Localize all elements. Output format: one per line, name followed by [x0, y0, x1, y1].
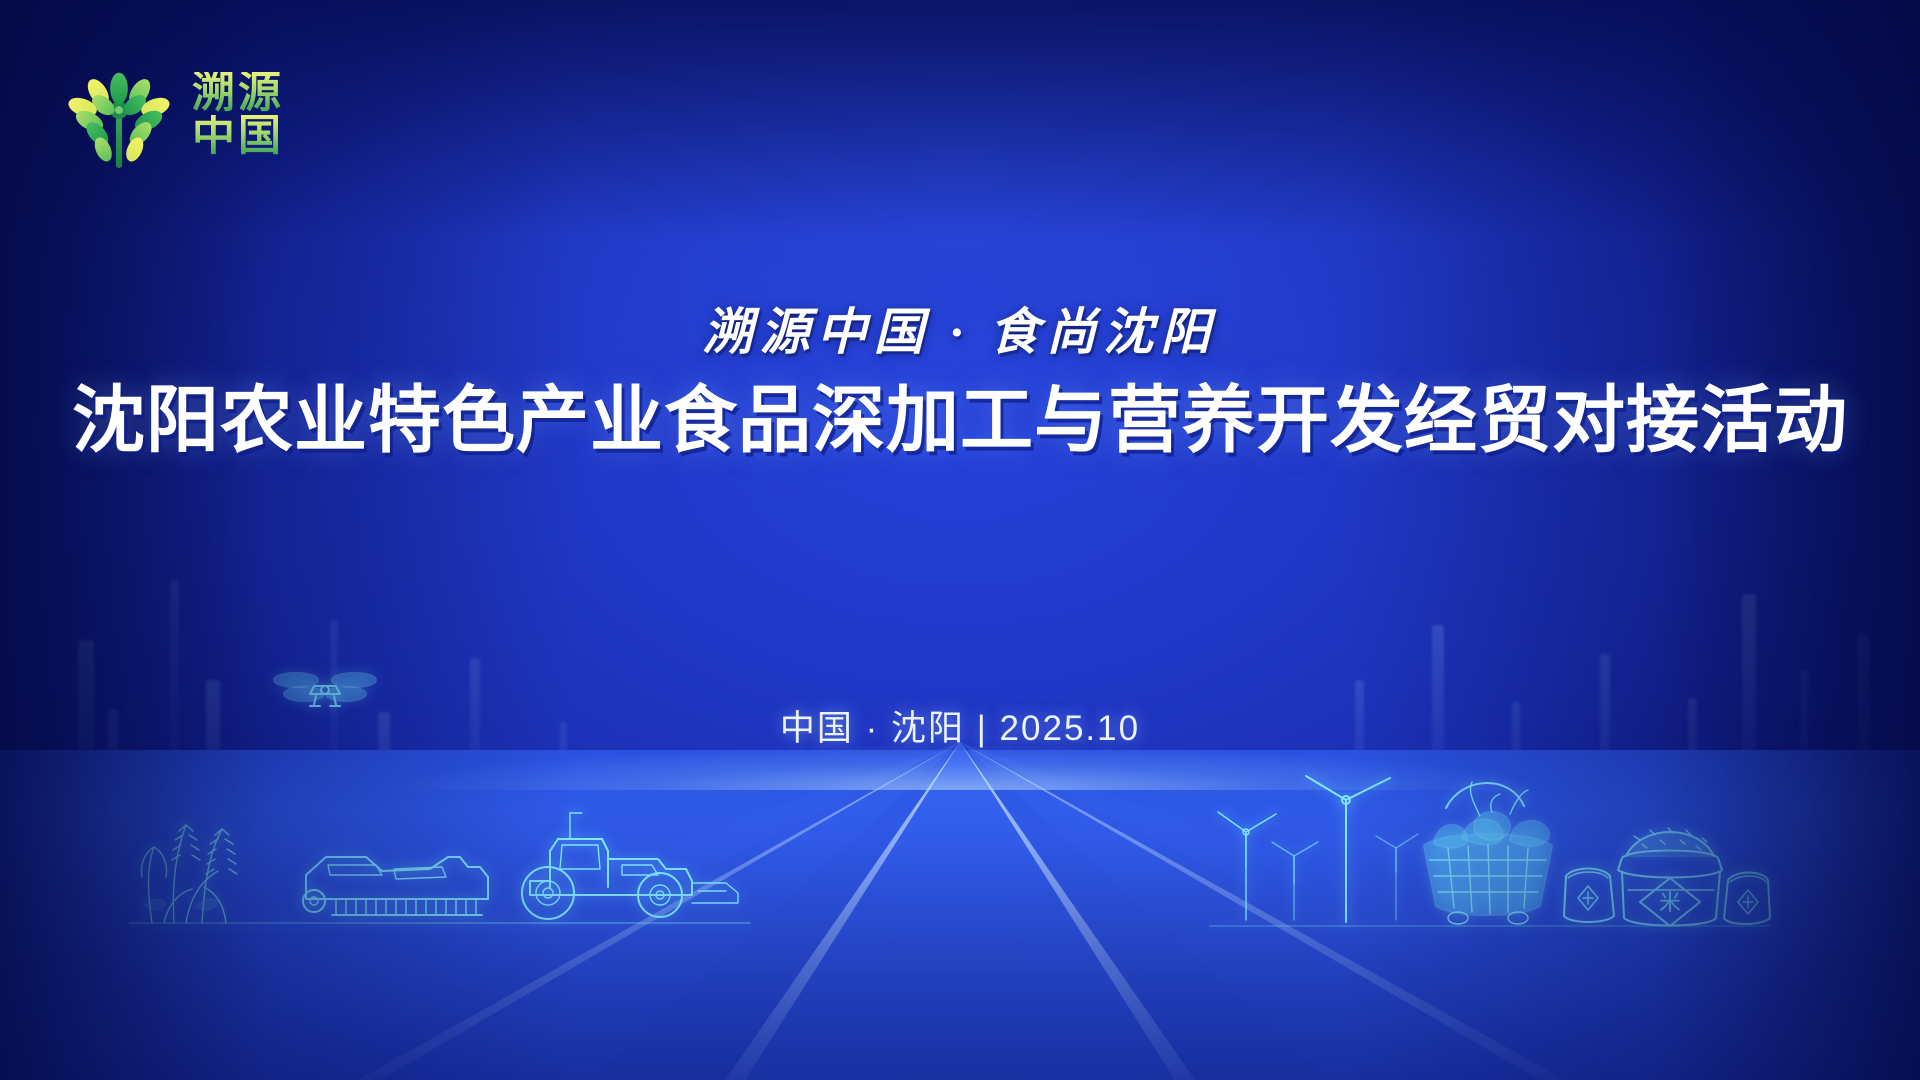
location-date-line: 中国 · 沈阳 | 2025.10 [0, 700, 1920, 751]
page-title: 沈阳农业特色产业食品深加工与营养开发经贸对接活动 [0, 382, 1920, 461]
headline-group: 溯源中国 · 食尚沈阳 沈阳农业特色产业食品深加工与营养开发经贸对接活动 [0, 292, 1920, 461]
location-date-text: 中国 · 沈阳 | 2025.10 [780, 709, 1140, 748]
brand-logo-line2: 中国 [192, 115, 284, 158]
brand-logo[interactable]: 溯源 中国 [60, 56, 284, 174]
brand-logo-wordmark: 溯源 中国 [192, 72, 284, 158]
event-subtitle: 溯源中国 · 食尚沈阳 [0, 292, 1920, 364]
poster-stage: 米 [0, 0, 1920, 1080]
background-vignette [0, 0, 1920, 1080]
brand-logo-line1: 溯源 [192, 72, 284, 115]
tree-leaf-icon [60, 56, 178, 174]
